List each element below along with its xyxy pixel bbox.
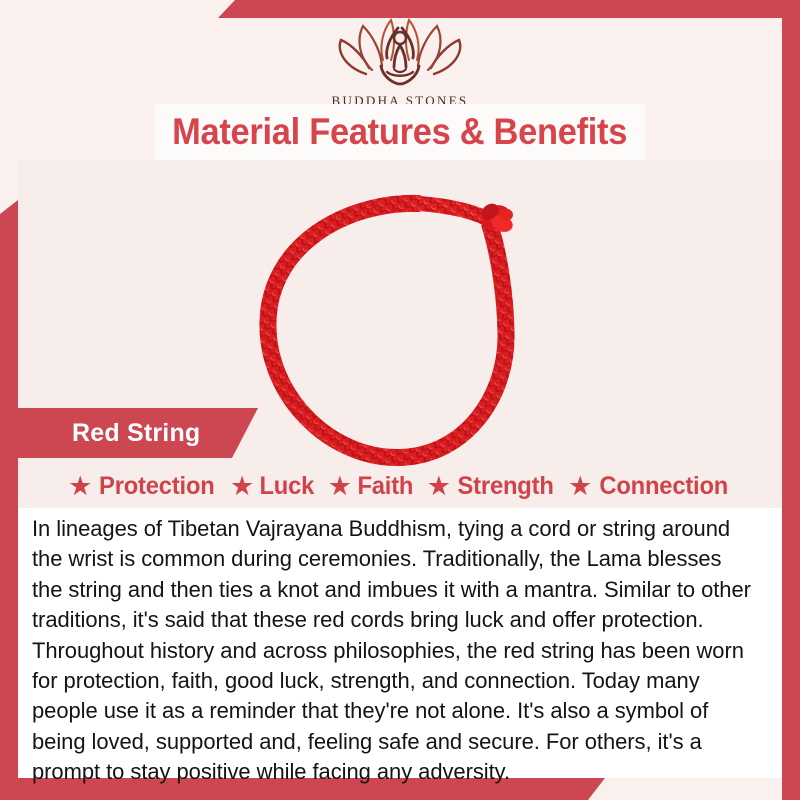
star-icon: ★ <box>568 473 592 500</box>
feature-label: Faith <box>357 472 413 501</box>
title-banner: Material Features & Benefits <box>155 104 645 160</box>
feature-label: Luck <box>260 472 315 501</box>
infographic-canvas: BUDDHA STONES Material Features & Benefi… <box>0 0 800 800</box>
feature-label: Protection <box>99 472 215 501</box>
product-label-banner: Red String <box>0 408 258 458</box>
red-string-bracelet-image <box>240 182 560 487</box>
feature-item-strength: ★ Strength <box>422 472 561 501</box>
feature-item-protection: ★ Protection <box>63 472 223 501</box>
description-block: In lineages of Tibetan Vajrayana Buddhis… <box>18 508 782 778</box>
left-red-strip <box>0 200 18 800</box>
feature-label: Strength <box>457 472 553 501</box>
product-label: Red String <box>72 419 200 448</box>
brand-logo: BUDDHA STONES <box>0 14 800 109</box>
star-icon: ★ <box>427 473 451 500</box>
star-icon: ★ <box>230 473 254 500</box>
feature-item-faith: ★ Faith <box>323 472 420 501</box>
star-icon: ★ <box>328 473 352 500</box>
feature-item-luck: ★ Luck <box>225 472 321 501</box>
header: BUDDHA STONES Material Features & Benefi… <box>0 0 800 170</box>
feature-label: Connection <box>600 472 729 501</box>
lotus-meditation-figure-icon <box>325 14 475 91</box>
description-text: In lineages of Tibetan Vajrayana Buddhis… <box>32 514 757 788</box>
star-icon: ★ <box>68 473 92 500</box>
page-title: Material Features & Benefits <box>173 111 628 153</box>
feature-list: ★ Protection ★ Luck ★ Faith ★ Strength ★… <box>18 466 782 506</box>
feature-item-connection: ★ Connection <box>563 472 737 501</box>
